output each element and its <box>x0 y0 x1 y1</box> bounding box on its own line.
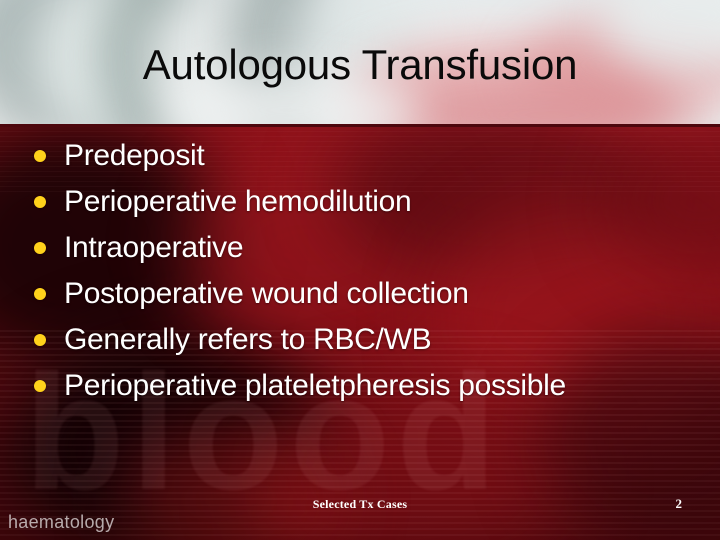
list-item: Perioperative plateletpheresis possible <box>34 363 694 409</box>
bullet-dot-icon <box>34 196 46 208</box>
bullet-dot-icon <box>34 150 46 162</box>
bullet-dot-icon <box>34 242 46 254</box>
list-item: Generally refers to RBC/WB <box>34 317 694 363</box>
brand-watermark: haematology <box>8 512 114 533</box>
bullet-dot-icon <box>34 334 46 346</box>
presentation-slide: blood Autologous Transfusion Predeposit … <box>0 0 720 540</box>
list-item-label: Perioperative plateletpheresis possible <box>64 369 566 403</box>
list-item-label: Perioperative hemodilution <box>64 185 411 219</box>
list-item-label: Postoperative wound collection <box>64 277 469 311</box>
list-item-label: Intraoperative <box>64 231 243 265</box>
footer-note: Selected Tx Cases <box>0 497 720 512</box>
slide-title: Autologous Transfusion <box>0 40 720 90</box>
bullet-list: Predeposit Perioperative hemodilution In… <box>34 133 694 409</box>
list-item: Postoperative wound collection <box>34 271 694 317</box>
page-number: 2 <box>676 496 683 512</box>
list-item: Perioperative hemodilution <box>34 179 694 225</box>
list-item: Intraoperative <box>34 225 694 271</box>
bullet-dot-icon <box>34 380 46 392</box>
bullet-dot-icon <box>34 288 46 300</box>
list-item-label: Predeposit <box>64 139 204 173</box>
list-item-label: Generally refers to RBC/WB <box>64 323 431 357</box>
list-item: Predeposit <box>34 133 694 179</box>
slide-header-band: Autologous Transfusion <box>0 0 720 127</box>
